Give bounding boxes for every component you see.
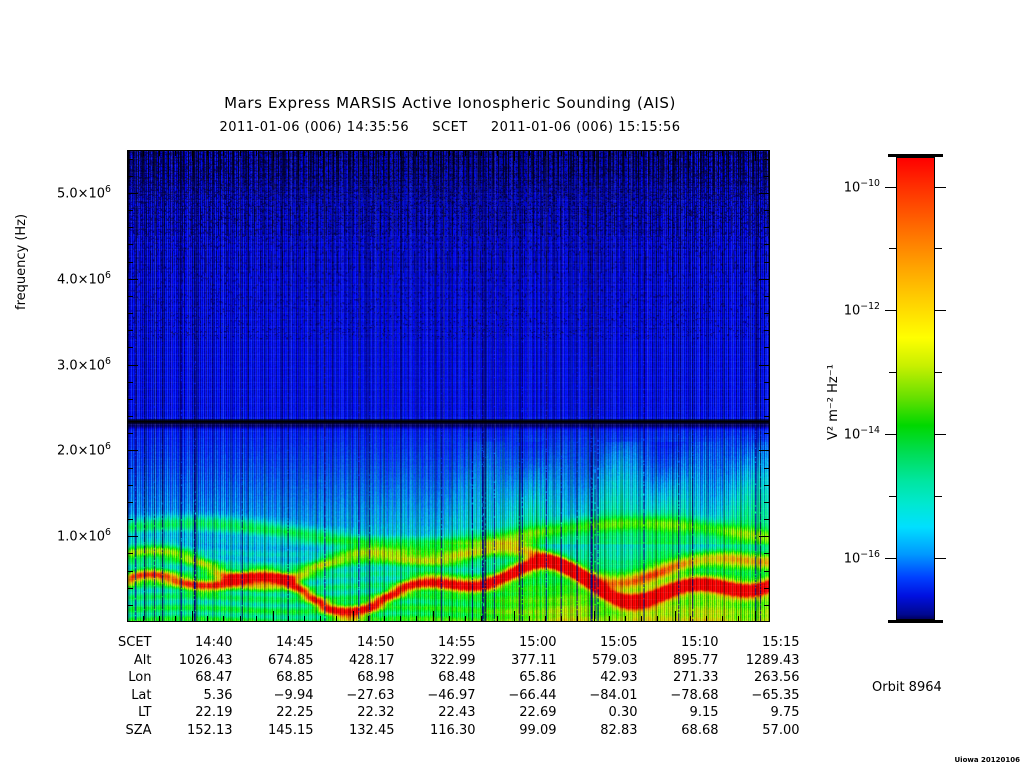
x-minor-tick-top bbox=[240, 150, 241, 156]
table-cell: 152.13 bbox=[152, 722, 233, 740]
x-major-tick-top bbox=[594, 150, 595, 161]
y-minor-tick-left bbox=[127, 227, 133, 228]
table-cell: 57.00 bbox=[719, 722, 800, 740]
colorbar-minor-tick-right bbox=[935, 496, 942, 497]
table-cell: 22.32 bbox=[314, 704, 395, 722]
x-major-tick-bottom bbox=[755, 611, 756, 622]
y-minor-tick-right bbox=[764, 330, 770, 331]
ephemeris-table: SCET14:4014:4514:5014:5515:0015:0515:101… bbox=[46, 634, 800, 739]
y-minor-tick-left bbox=[127, 588, 133, 589]
y-minor-tick-left bbox=[127, 502, 133, 503]
table-cell: 22.69 bbox=[476, 704, 557, 722]
colorbar-minor-tick-left bbox=[889, 372, 896, 373]
colorbar-tick-label: 10−12 bbox=[0, 301, 880, 318]
y-axis-title: frequency (Hz) bbox=[14, 214, 29, 310]
x-major-tick-top bbox=[675, 150, 676, 161]
x-minor-tick-top bbox=[320, 150, 321, 156]
table-cell: 22.25 bbox=[233, 704, 314, 722]
y-major-tick-left bbox=[127, 279, 138, 280]
x-minor-tick-bottom bbox=[722, 616, 723, 622]
table-row: Lat5.36−9.94−27.63−46.97−66.44−84.01−78.… bbox=[46, 687, 800, 705]
x-minor-tick-top bbox=[641, 150, 642, 156]
x-major-tick-top bbox=[273, 150, 274, 161]
x-minor-tick-bottom bbox=[497, 616, 498, 622]
x-major-tick-bottom bbox=[192, 611, 193, 622]
x-minor-tick-top bbox=[609, 150, 610, 156]
x-minor-tick-bottom bbox=[657, 616, 658, 622]
x-minor-tick-bottom bbox=[336, 616, 337, 622]
y-minor-tick-right bbox=[764, 262, 770, 263]
x-minor-tick-bottom bbox=[625, 616, 626, 622]
x-major-tick-top bbox=[514, 150, 515, 161]
x-minor-tick-top bbox=[223, 150, 224, 156]
table-cell: 9.75 bbox=[719, 704, 800, 722]
table-cell: 579.03 bbox=[557, 652, 638, 670]
colorbar-gradient bbox=[897, 158, 934, 619]
table-cell: 65.86 bbox=[476, 669, 557, 687]
x-minor-tick-top bbox=[529, 150, 530, 156]
table-cell: 14:55 bbox=[395, 634, 476, 652]
x-minor-tick-top bbox=[561, 150, 562, 156]
y-minor-tick-right bbox=[764, 227, 770, 228]
colorbar-major-tick-left bbox=[885, 434, 896, 435]
x-minor-tick-top bbox=[722, 150, 723, 156]
x-minor-tick-bottom bbox=[143, 616, 144, 622]
x-major-tick-bottom bbox=[675, 611, 676, 622]
table-row-label: SCET bbox=[46, 634, 152, 652]
x-minor-tick-top bbox=[545, 150, 546, 156]
y-major-tick-right bbox=[759, 365, 770, 366]
table-cell: 22.43 bbox=[395, 704, 476, 722]
x-minor-tick-bottom bbox=[159, 616, 160, 622]
colorbar-major-tick-left bbox=[885, 187, 896, 188]
table-cell: 68.98 bbox=[314, 669, 395, 687]
y-minor-tick-right bbox=[764, 176, 770, 177]
colorbar[interactable] bbox=[896, 157, 935, 620]
x-minor-tick-bottom bbox=[223, 616, 224, 622]
colorbar-major-tick-right bbox=[935, 310, 946, 311]
y-minor-tick-right bbox=[764, 210, 770, 211]
x-minor-tick-bottom bbox=[256, 616, 257, 622]
y-minor-tick-left bbox=[127, 296, 133, 297]
y-axis-tick-label: 3.0×106 bbox=[0, 356, 111, 373]
y-minor-tick-right bbox=[764, 416, 770, 417]
table-cell: 15:00 bbox=[476, 634, 557, 652]
y-minor-tick-left bbox=[127, 605, 133, 606]
x-minor-tick-bottom bbox=[529, 616, 530, 622]
table-cell: −84.01 bbox=[557, 687, 638, 705]
x-minor-tick-bottom bbox=[465, 616, 466, 622]
y-minor-tick-left bbox=[127, 571, 133, 572]
high-frequency-noise-speckle-3 bbox=[128, 251, 769, 273]
x-minor-tick-bottom bbox=[641, 616, 642, 622]
y-minor-tick-left bbox=[127, 210, 133, 211]
y-minor-tick-left bbox=[127, 262, 133, 263]
x-minor-tick-bottom bbox=[207, 616, 208, 622]
high-frequency-noise-speckle-2 bbox=[128, 206, 769, 236]
table-row: SZA152.13145.15132.45116.3099.0982.8368.… bbox=[46, 722, 800, 740]
table-row-label: Alt bbox=[46, 652, 152, 670]
x-minor-tick-top bbox=[288, 150, 289, 156]
table-cell: 895.77 bbox=[638, 652, 719, 670]
table-row-label: SZA bbox=[46, 722, 152, 740]
table-cell: −65.35 bbox=[719, 687, 800, 705]
colorbar-top-cap bbox=[888, 154, 943, 157]
y-minor-tick-right bbox=[764, 399, 770, 400]
table-cell: 15:10 bbox=[638, 634, 719, 652]
x-minor-tick-top bbox=[625, 150, 626, 156]
table-cell: 0.30 bbox=[557, 704, 638, 722]
table-cell: 1289.43 bbox=[719, 652, 800, 670]
x-minor-tick-top bbox=[304, 150, 305, 156]
x-minor-tick-bottom bbox=[449, 616, 450, 622]
page-title: Mars Express MARSIS Active Ionospheric S… bbox=[0, 94, 900, 112]
x-minor-tick-top bbox=[336, 150, 337, 156]
x-minor-tick-top bbox=[159, 150, 160, 156]
table-row: Lon68.4768.8568.9868.4865.8642.93271.332… bbox=[46, 669, 800, 687]
table-cell: −78.68 bbox=[638, 687, 719, 705]
y-minor-tick-left bbox=[127, 468, 133, 469]
x-major-tick-top bbox=[353, 150, 354, 161]
x-minor-tick-bottom bbox=[706, 616, 707, 622]
table-cell: 271.33 bbox=[638, 669, 719, 687]
table-row-label: LT bbox=[46, 704, 152, 722]
y-minor-tick-left bbox=[127, 519, 133, 520]
x-minor-tick-bottom bbox=[738, 616, 739, 622]
x-minor-tick-bottom bbox=[400, 616, 401, 622]
y-minor-tick-left bbox=[127, 416, 133, 417]
x-minor-tick-top bbox=[706, 150, 707, 156]
x-minor-tick-bottom bbox=[690, 616, 691, 622]
y-minor-tick-right bbox=[764, 468, 770, 469]
table-cell: 15:05 bbox=[557, 634, 638, 652]
x-minor-tick-bottom bbox=[288, 616, 289, 622]
colorbar-minor-tick-left bbox=[889, 496, 896, 497]
x-minor-tick-top bbox=[400, 150, 401, 156]
y-minor-tick-right bbox=[764, 519, 770, 520]
colorbar-major-tick-left bbox=[885, 558, 896, 559]
x-minor-tick-bottom bbox=[320, 616, 321, 622]
y-minor-tick-right bbox=[764, 588, 770, 589]
table-cell: −27.63 bbox=[314, 687, 395, 705]
table-cell: 322.99 bbox=[395, 652, 476, 670]
x-minor-tick-bottom bbox=[609, 616, 610, 622]
y-minor-tick-left bbox=[127, 485, 133, 486]
table-cell: 14:40 bbox=[152, 634, 233, 652]
x-minor-tick-top bbox=[577, 150, 578, 156]
table-cell: 14:45 bbox=[233, 634, 314, 652]
table-cell: 68.68 bbox=[638, 722, 719, 740]
x-minor-tick-bottom bbox=[577, 616, 578, 622]
table-cell: 263.56 bbox=[719, 669, 800, 687]
x-minor-tick-top bbox=[449, 150, 450, 156]
table-cell: 14:50 bbox=[314, 634, 395, 652]
y-minor-tick-left bbox=[127, 159, 133, 160]
colorbar-major-tick-right bbox=[935, 434, 946, 435]
x-minor-tick-top bbox=[256, 150, 257, 156]
watermark-credit: Uiowa 20120106 bbox=[955, 756, 1021, 764]
y-minor-tick-left bbox=[127, 399, 133, 400]
table-cell: 68.47 bbox=[152, 669, 233, 687]
x-minor-tick-top bbox=[497, 150, 498, 156]
x-minor-tick-top bbox=[465, 150, 466, 156]
y-major-tick-right bbox=[759, 536, 770, 537]
y-axis-tick-label: 2.0×106 bbox=[0, 441, 111, 458]
table-row-label: Lon bbox=[46, 669, 152, 687]
plasma-resonance-dark-band bbox=[128, 419, 769, 424]
x-minor-tick-top bbox=[175, 150, 176, 156]
x-minor-tick-top bbox=[207, 150, 208, 156]
x-minor-tick-bottom bbox=[545, 616, 546, 622]
x-minor-tick-top bbox=[143, 150, 144, 156]
table-cell: 116.30 bbox=[395, 722, 476, 740]
x-major-tick-top bbox=[192, 150, 193, 161]
x-major-tick-top bbox=[755, 150, 756, 161]
x-minor-tick-top bbox=[738, 150, 739, 156]
x-minor-tick-top bbox=[416, 150, 417, 156]
y-major-tick-left bbox=[127, 365, 138, 366]
x-minor-tick-bottom bbox=[481, 616, 482, 622]
colorbar-minor-tick-right bbox=[935, 372, 942, 373]
x-major-tick-bottom bbox=[594, 611, 595, 622]
table-cell: 68.48 bbox=[395, 669, 476, 687]
table-cell: 9.15 bbox=[638, 704, 719, 722]
table-cell: 82.83 bbox=[557, 722, 638, 740]
table-row: Alt1026.43674.85428.17322.99377.11579.03… bbox=[46, 652, 800, 670]
orbit-label: Orbit 8964 bbox=[872, 680, 942, 695]
y-minor-tick-left bbox=[127, 244, 133, 245]
y-minor-tick-left bbox=[127, 347, 133, 348]
y-minor-tick-left bbox=[127, 176, 133, 177]
table-cell: 99.09 bbox=[476, 722, 557, 740]
table-cell: 132.45 bbox=[314, 722, 395, 740]
table-cell: 15:15 bbox=[719, 634, 800, 652]
x-major-tick-bottom bbox=[273, 611, 274, 622]
y-minor-tick-right bbox=[764, 382, 770, 383]
y-minor-tick-left bbox=[127, 330, 133, 331]
y-major-tick-left bbox=[127, 450, 138, 451]
y-minor-tick-right bbox=[764, 159, 770, 160]
table-cell: −9.94 bbox=[233, 687, 314, 705]
table-cell: 428.17 bbox=[314, 652, 395, 670]
x-minor-tick-bottom bbox=[368, 616, 369, 622]
colorbar-tick-label: 10−16 bbox=[0, 549, 880, 566]
x-minor-tick-top bbox=[690, 150, 691, 156]
y-minor-tick-left bbox=[127, 382, 133, 383]
table-row: SCET14:4014:4514:5014:5515:0015:0515:101… bbox=[46, 634, 800, 652]
table-cell: 1026.43 bbox=[152, 652, 233, 670]
colorbar-major-tick-right bbox=[935, 558, 946, 559]
table-cell: −46.97 bbox=[395, 687, 476, 705]
y-minor-tick-right bbox=[764, 502, 770, 503]
y-minor-tick-right bbox=[764, 485, 770, 486]
table-cell: 42.93 bbox=[557, 669, 638, 687]
y-major-tick-right bbox=[759, 279, 770, 280]
table-cell: 68.85 bbox=[233, 669, 314, 687]
x-minor-tick-bottom bbox=[561, 616, 562, 622]
table-cell: 674.85 bbox=[233, 652, 314, 670]
table-cell: 377.11 bbox=[476, 652, 557, 670]
x-minor-tick-bottom bbox=[304, 616, 305, 622]
colorbar-minor-tick-left bbox=[889, 248, 896, 249]
x-minor-tick-bottom bbox=[240, 616, 241, 622]
y-axis-tick-label: 1.0×106 bbox=[0, 527, 111, 544]
colorbar-tick-label: 10−10 bbox=[0, 178, 880, 195]
page-subtitle: 2011-01-06 (006) 14:35:56 SCET 2011-01-0… bbox=[0, 120, 900, 135]
y-minor-tick-right bbox=[764, 296, 770, 297]
y-major-tick-right bbox=[759, 450, 770, 451]
y-minor-tick-right bbox=[764, 571, 770, 572]
colorbar-bottom-cap bbox=[888, 620, 943, 623]
table-cell: 145.15 bbox=[233, 722, 314, 740]
x-major-tick-bottom bbox=[514, 611, 515, 622]
table-cell: 5.36 bbox=[152, 687, 233, 705]
x-minor-tick-top bbox=[384, 150, 385, 156]
colorbar-minor-tick-right bbox=[935, 248, 942, 249]
x-major-tick-bottom bbox=[433, 611, 434, 622]
x-minor-tick-top bbox=[481, 150, 482, 156]
colorbar-major-tick-left bbox=[885, 310, 896, 311]
x-major-tick-top bbox=[433, 150, 434, 161]
y-minor-tick-right bbox=[764, 347, 770, 348]
x-minor-tick-bottom bbox=[384, 616, 385, 622]
table-cell: −66.44 bbox=[476, 687, 557, 705]
x-minor-tick-top bbox=[368, 150, 369, 156]
y-minor-tick-right bbox=[764, 605, 770, 606]
x-minor-tick-top bbox=[657, 150, 658, 156]
y-major-tick-left bbox=[127, 536, 138, 537]
table-cell: 22.19 bbox=[152, 704, 233, 722]
x-minor-tick-bottom bbox=[175, 616, 176, 622]
y-minor-tick-right bbox=[764, 244, 770, 245]
x-minor-tick-bottom bbox=[416, 616, 417, 622]
table-row: LT22.1922.2522.3222.4322.690.309.159.75 bbox=[46, 704, 800, 722]
x-major-tick-bottom bbox=[353, 611, 354, 622]
colorbar-tick-label: 10−14 bbox=[0, 425, 880, 442]
table-row-label: Lat bbox=[46, 687, 152, 705]
colorbar-major-tick-right bbox=[935, 187, 946, 188]
